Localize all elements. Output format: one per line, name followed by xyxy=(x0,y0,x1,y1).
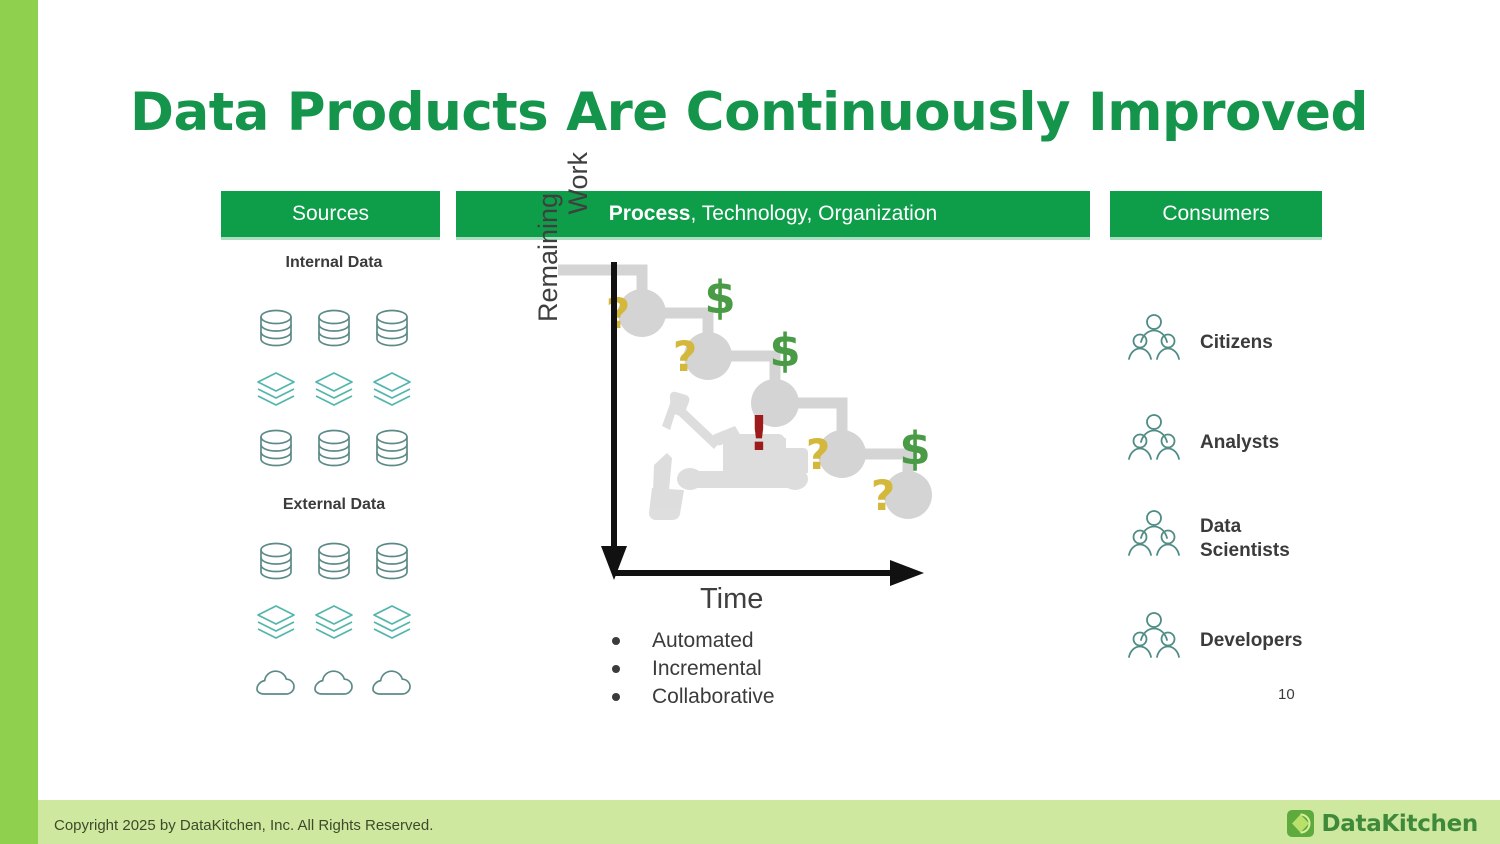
slide-number: 10 xyxy=(1278,686,1295,703)
page-title: Data Products Are Continuously Improved xyxy=(130,82,1330,144)
database-icon xyxy=(363,420,421,480)
footer-accent-bar xyxy=(0,800,38,844)
list-item: Automated xyxy=(612,627,775,655)
left-accent-bar xyxy=(0,0,38,844)
layers-icon xyxy=(363,360,421,420)
database-icon xyxy=(247,300,305,360)
list-item: Incremental xyxy=(612,655,775,683)
list-item-label: Automated xyxy=(652,627,754,655)
question-mark-icon: ? xyxy=(673,332,697,381)
internal-data-heading: Internal Data xyxy=(224,254,444,272)
layers-icon xyxy=(247,360,305,420)
consumer-item-analysts: Analysts xyxy=(1126,412,1279,473)
layers-icon xyxy=(363,593,421,653)
database-icon xyxy=(305,533,363,593)
x-axis-arrow xyxy=(614,560,924,586)
consumer-label: Citizens xyxy=(1200,331,1273,355)
dollar-sign-icon: $ xyxy=(769,324,800,377)
question-mark-icon: ? xyxy=(806,430,830,479)
bullet-dot-icon xyxy=(612,693,620,701)
cloud-icon xyxy=(247,653,305,713)
header-bar-process-label-bold: Process xyxy=(609,202,691,226)
y-axis-label-line1: Remaining xyxy=(533,193,563,322)
cloud-icon xyxy=(363,653,421,713)
header-bar-process-label-rest: , Technology, Organization xyxy=(691,202,938,226)
layers-icon xyxy=(305,593,363,653)
consumer-label: Analysts xyxy=(1200,431,1279,455)
people-group-icon xyxy=(1126,610,1182,671)
slide-canvas: Data Products Are Continuously Improved … xyxy=(0,0,1500,844)
bullet-dot-icon xyxy=(612,637,620,645)
footer-bar: Copyright 2025 by DataKitchen, Inc. All … xyxy=(0,800,1500,844)
consumer-label-line1: Developers xyxy=(1200,630,1302,651)
consumer-label-line2: Scientists xyxy=(1200,540,1290,561)
consumer-item-data-scientists: Data Scientists xyxy=(1126,508,1290,569)
datakitchen-logo-icon xyxy=(1287,810,1314,837)
consumer-item-developers: Developers xyxy=(1126,610,1302,671)
y-axis-label: Remaining Work xyxy=(533,152,593,322)
layers-icon xyxy=(305,360,363,420)
dollar-sign-icon: $ xyxy=(704,271,735,324)
people-group-icon xyxy=(1126,412,1182,473)
database-icon xyxy=(305,420,363,480)
bullet-dot-icon xyxy=(612,665,620,673)
list-item: Collaborative xyxy=(612,683,775,711)
datakitchen-logo-text: DataKitchen xyxy=(1321,811,1478,837)
database-icon xyxy=(247,533,305,593)
people-group-icon xyxy=(1126,508,1182,569)
header-bar-consumers[interactable]: Consumers xyxy=(1110,191,1322,237)
x-axis-label: Time xyxy=(700,583,763,616)
cloud-icon xyxy=(305,653,363,713)
consumer-label-line1: Analysts xyxy=(1200,432,1279,453)
list-item-label: Incremental xyxy=(652,655,762,683)
external-data-icon-grid xyxy=(224,533,444,713)
process-attributes-list: Automated Incremental Collaborative xyxy=(612,627,775,711)
database-icon xyxy=(247,420,305,480)
question-mark-icon: ? xyxy=(606,289,630,338)
header-bar-consumers-label: Consumers xyxy=(1162,202,1269,226)
y-axis-label-line2: Work xyxy=(563,152,593,322)
consumer-item-citizens: Citizens xyxy=(1126,312,1273,373)
layers-icon xyxy=(247,593,305,653)
list-item-label: Collaborative xyxy=(652,683,775,711)
consumer-label-line1: Data xyxy=(1200,516,1241,537)
database-icon xyxy=(305,300,363,360)
burndown-chart: ? ? ? ? $ $ $ $ ! xyxy=(530,258,950,588)
alert-exclamation-icon: ! xyxy=(748,406,770,462)
database-icon xyxy=(363,300,421,360)
dollar-sign-icon: $ xyxy=(899,422,930,475)
header-bar-sources-label: Sources xyxy=(292,202,369,226)
header-bar-sources[interactable]: Sources xyxy=(221,191,440,237)
consumer-label-line1: Citizens xyxy=(1200,332,1273,353)
database-icon xyxy=(363,533,421,593)
internal-data-icon-grid xyxy=(224,300,444,480)
datakitchen-logo[interactable]: DataKitchen xyxy=(1287,810,1478,837)
external-data-heading: External Data xyxy=(224,496,444,514)
consumer-label: Developers xyxy=(1200,629,1302,653)
consumer-label: Data Scientists xyxy=(1200,515,1290,563)
copyright-text: Copyright 2025 by DataKitchen, Inc. All … xyxy=(54,817,433,834)
people-group-icon xyxy=(1126,312,1182,373)
question-mark-icon: ? xyxy=(871,471,895,520)
